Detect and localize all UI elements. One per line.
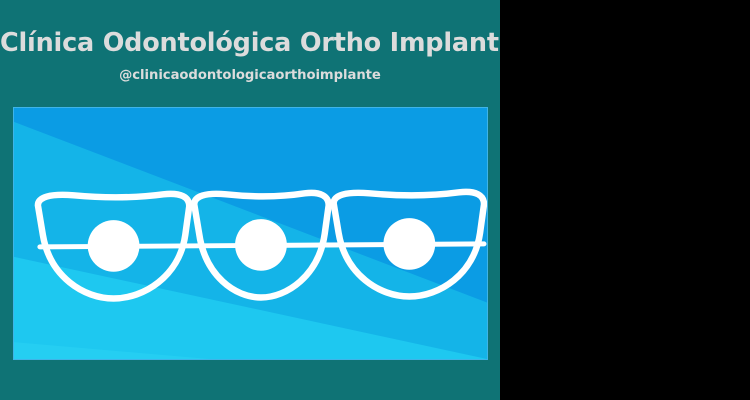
screenshot-canvas: Clínica Odontológica Ortho Implante @cli…	[0, 0, 750, 400]
black-filler-pane	[500, 0, 750, 400]
account-handle: @clinicaodontologicaorthoimplante	[0, 68, 500, 83]
braces-icon	[14, 108, 487, 359]
page-title: Clínica Odontológica Ortho Implante	[0, 29, 500, 58]
profile-panel: Clínica Odontológica Ortho Implante @cli…	[0, 0, 500, 400]
post-image-card[interactable]	[13, 107, 488, 360]
